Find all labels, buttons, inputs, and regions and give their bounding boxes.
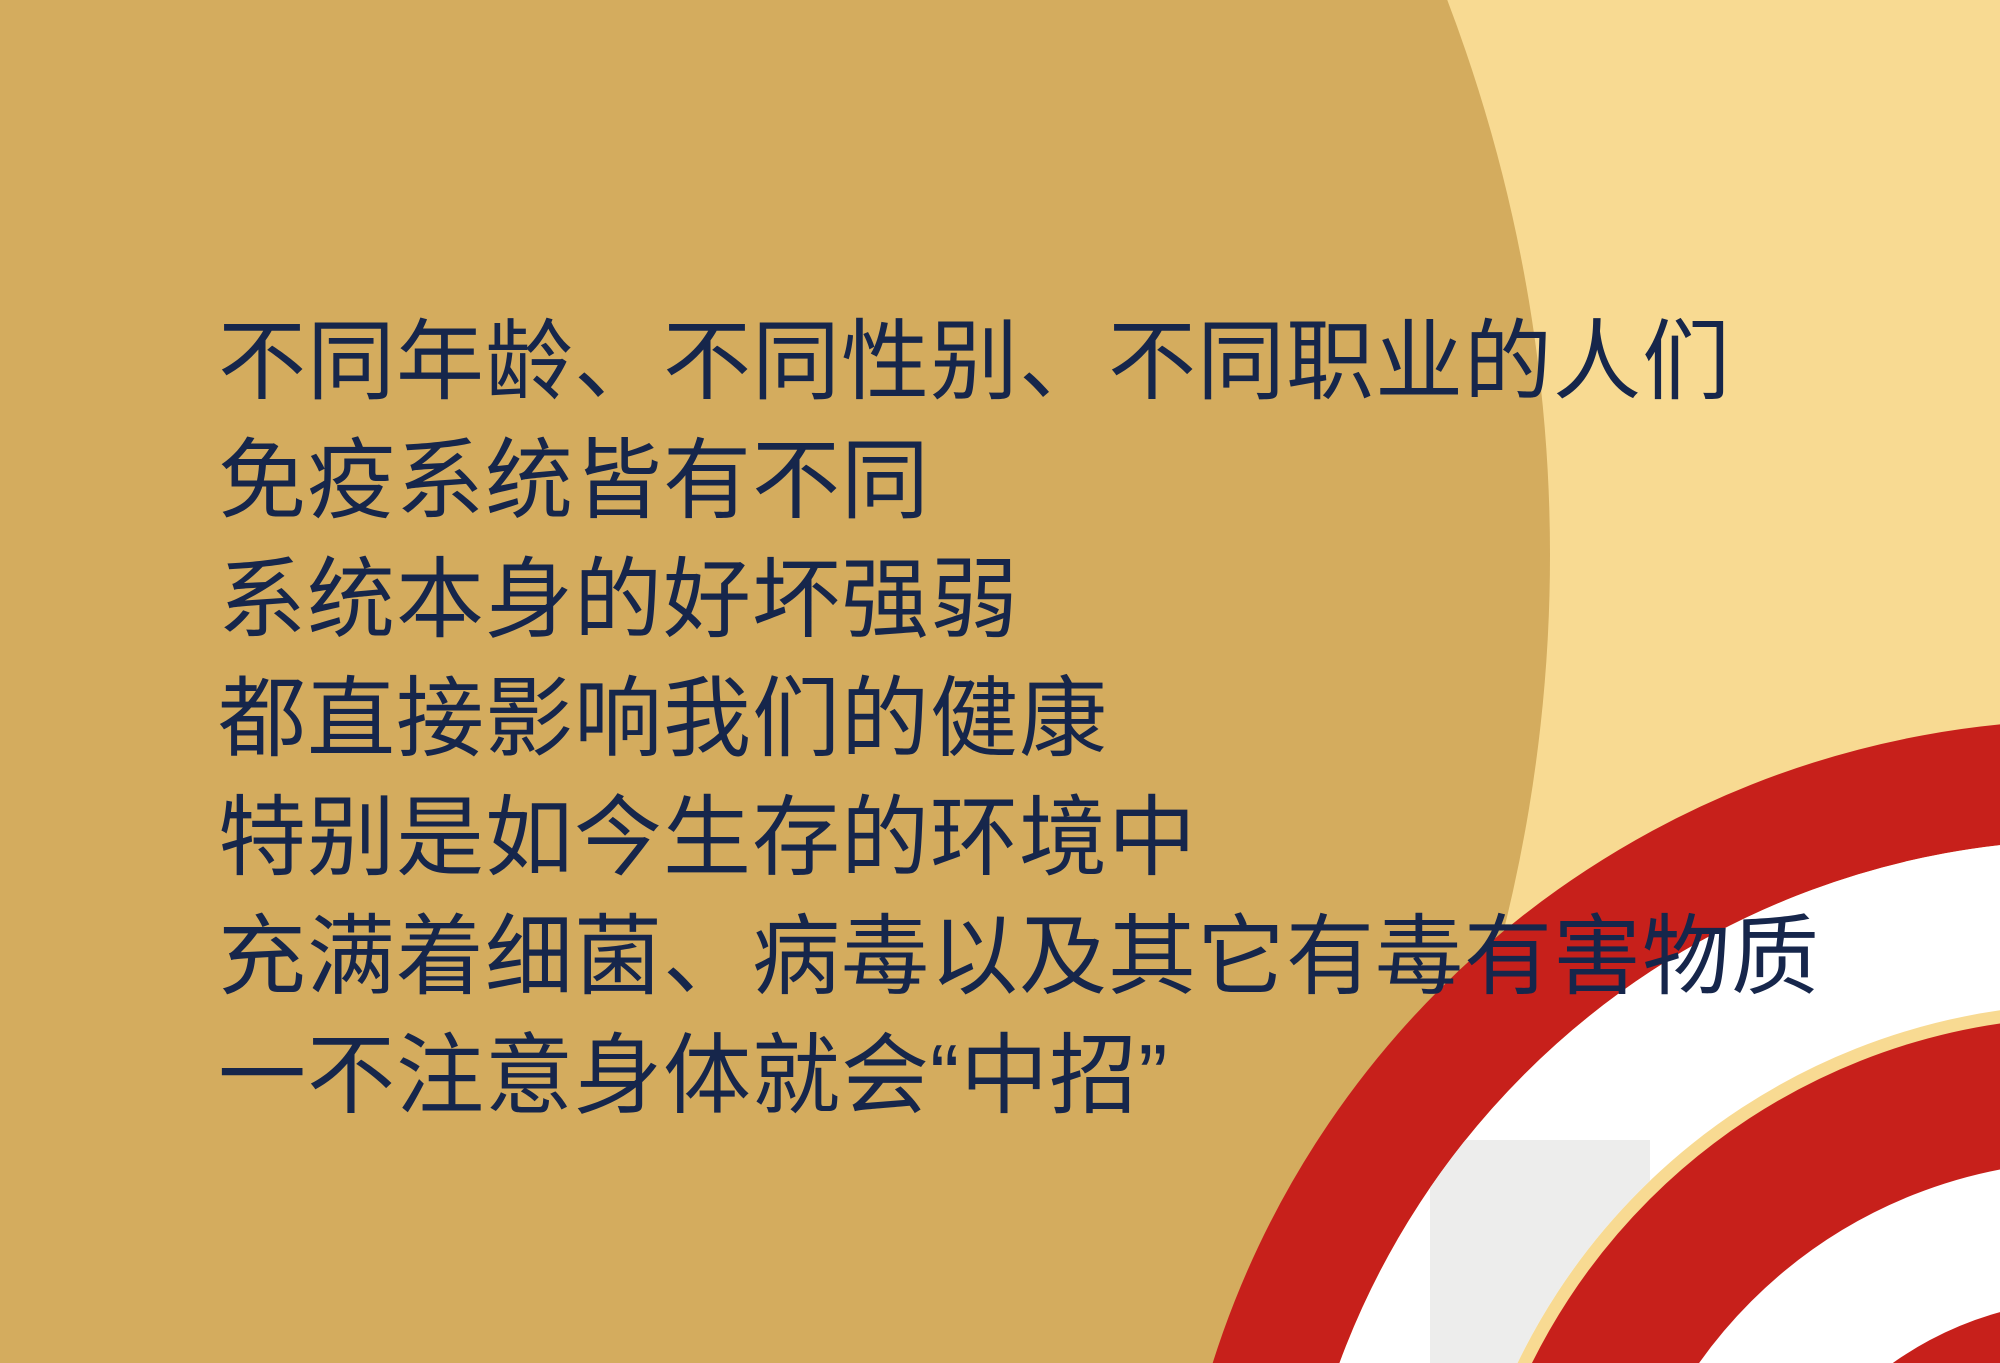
body-text-line-2: 免疫系统皆有不同: [218, 421, 1778, 540]
body-text-line-3: 系统本身的好坏强弱: [218, 540, 1778, 659]
body-text-block: 不同年龄、不同性别、不同职业的人们 免疫系统皆有不同 系统本身的好坏强弱 都直接…: [218, 302, 1778, 1135]
poster-canvas: 不同年龄、不同性别、不同职业的人们 免疫系统皆有不同 系统本身的好坏强弱 都直接…: [0, 0, 2000, 1363]
body-text-line-7: 一不注意身体就会“中招”: [218, 1016, 1778, 1135]
body-text-line-6: 充满着细菌、病毒以及其它有毒有害物质: [218, 897, 1778, 1016]
body-text-line-5: 特别是如今生存的环境中: [218, 778, 1778, 897]
body-text-line-4: 都直接影响我们的健康: [218, 659, 1778, 778]
body-text-line-1: 不同年龄、不同性别、不同职业的人们: [218, 302, 1778, 421]
